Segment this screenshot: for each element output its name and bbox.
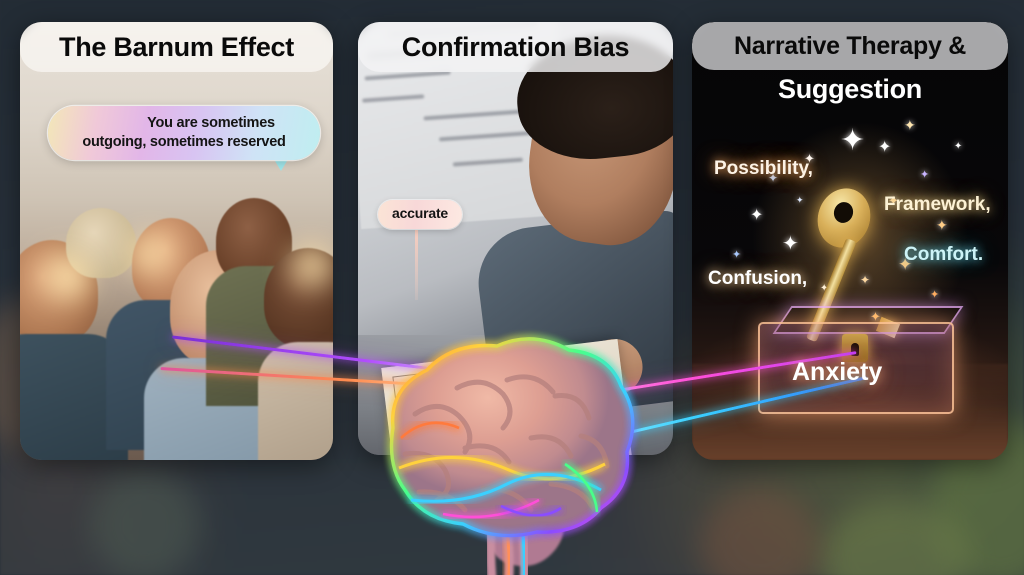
bubble-line-2: outgoing, sometimes reserved	[82, 133, 285, 152]
bubble-line-1: You are sometimes	[93, 114, 275, 133]
word-confusion: Confusion,	[708, 268, 807, 290]
sparkle-icon: ✦	[796, 196, 804, 205]
panel-barnum-title-pill: The Barnum Effect	[20, 22, 333, 72]
panel-barnum-effect[interactable]: You are sometimes outgoing, sometimes re…	[20, 22, 333, 460]
box-label-anxiety: Anxiety	[792, 358, 882, 387]
sparkle-icon: ✦	[930, 290, 939, 301]
panel-narrative-title-line2: Suggestion	[692, 74, 1008, 105]
sparkle-icon: ✦	[840, 126, 865, 156]
bokeh-light	[290, 244, 333, 288]
sparkle-icon: ✦	[860, 274, 870, 286]
bokeh-light	[44, 254, 90, 300]
barnum-speech-bubble: You are sometimes outgoing, sometimes re…	[48, 106, 320, 160]
bokeh-light	[90, 470, 200, 575]
sparkle-icon: ✦	[878, 140, 891, 156]
accurate-label-text: accurate	[392, 205, 448, 221]
poster-canvas: You are sometimes outgoing, sometimes re…	[0, 0, 1024, 575]
panel-confirmation-title: Confirmation Bias	[402, 32, 629, 63]
word-possibility: Possibility,	[714, 158, 813, 180]
word-comfort: Comfort.	[904, 244, 983, 266]
panel-confirmation-title-pill: Confirmation Bias	[358, 22, 673, 72]
brain-graphic	[355, 318, 675, 575]
accurate-label-stem	[415, 230, 418, 300]
crowd-person-body	[258, 342, 333, 460]
panel-narrative-title-line1: Narrative Therapy &	[734, 32, 966, 61]
sparkle-icon: ✦	[920, 170, 929, 181]
sparkle-icon: ✦	[782, 234, 799, 254]
sparkle-icon: ✦	[732, 250, 741, 261]
sparkle-icon: ✦	[750, 208, 763, 224]
word-framework: Framework,	[884, 194, 991, 216]
sparkle-icon: ✦	[936, 218, 948, 232]
sparkle-icon: ✦	[954, 142, 962, 152]
accurate-label: accurate	[378, 200, 462, 229]
bokeh-light	[130, 234, 170, 274]
panel-barnum-title: The Barnum Effect	[59, 32, 294, 63]
panel-narrative-title-pill: Narrative Therapy &	[692, 22, 1008, 70]
sparkle-icon: ✦	[904, 118, 916, 132]
panel-narrative-therapy[interactable]: ✦ ✦ ✦ ✦ ✦ ✦ ✦ ✦ ✦ ✦ ✦ ✦ ✦ ✦ ✦ ✦ ✦ ✦ Poss	[692, 22, 1008, 460]
center-brain	[355, 318, 675, 575]
panel-barnum-photo	[20, 22, 333, 460]
